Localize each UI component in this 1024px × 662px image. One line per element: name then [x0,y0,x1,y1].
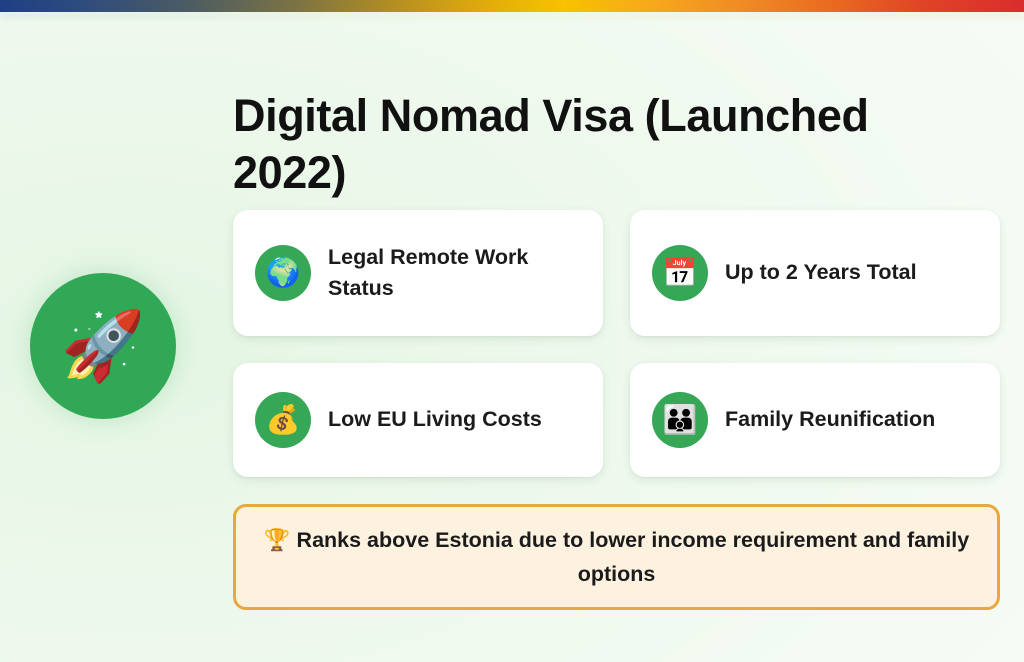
family-icon-badge: 👪 [652,392,708,448]
calendar-icon-badge: 📅 [652,245,708,301]
calendar-icon: 📅 [663,259,698,287]
accent-bar-glow [0,12,1024,19]
rocket-badge: 🚀 [30,273,176,419]
feature-card-family-reunification[interactable]: 👪 Family Reunification [630,363,1000,477]
feature-grid: 🌍 Legal Remote Work Status 📅 Up to 2 Yea… [233,210,1000,477]
highlight-note-message: Ranks above Estonia due to lower income … [297,528,970,585]
feature-card-label: Low EU Living Costs [328,404,542,435]
feature-card-label: Family Reunification [725,404,935,435]
money-bag-icon: 💰 [266,406,301,434]
feature-card-label: Legal Remote Work Status [328,242,583,304]
family-icon: 👪 [663,406,698,434]
feature-card-legal-remote-work-status[interactable]: 🌍 Legal Remote Work Status [233,210,603,336]
slide-canvas: 🚀 Digital Nomad Visa (Launched 2022) 🌍 L… [0,0,1024,662]
feature-card-up-to-2-years-total[interactable]: 📅 Up to 2 Years Total [630,210,1000,336]
rocket-icon: 🚀 [61,313,146,381]
trophy-icon: 🏆 [264,528,291,553]
highlight-note-text: 🏆 Ranks above Estonia due to lower incom… [262,524,971,590]
rainbow-accent-bar [0,0,1024,12]
money-bag-icon-badge: 💰 [255,392,311,448]
globe-icon-badge: 🌍 [255,245,311,301]
page-title: Digital Nomad Visa (Launched 2022) [233,88,933,201]
feature-card-low-eu-living-costs[interactable]: 💰 Low EU Living Costs [233,363,603,477]
globe-icon: 🌍 [266,259,301,287]
feature-card-label: Up to 2 Years Total [725,257,917,288]
highlight-note: 🏆 Ranks above Estonia due to lower incom… [233,504,1000,610]
